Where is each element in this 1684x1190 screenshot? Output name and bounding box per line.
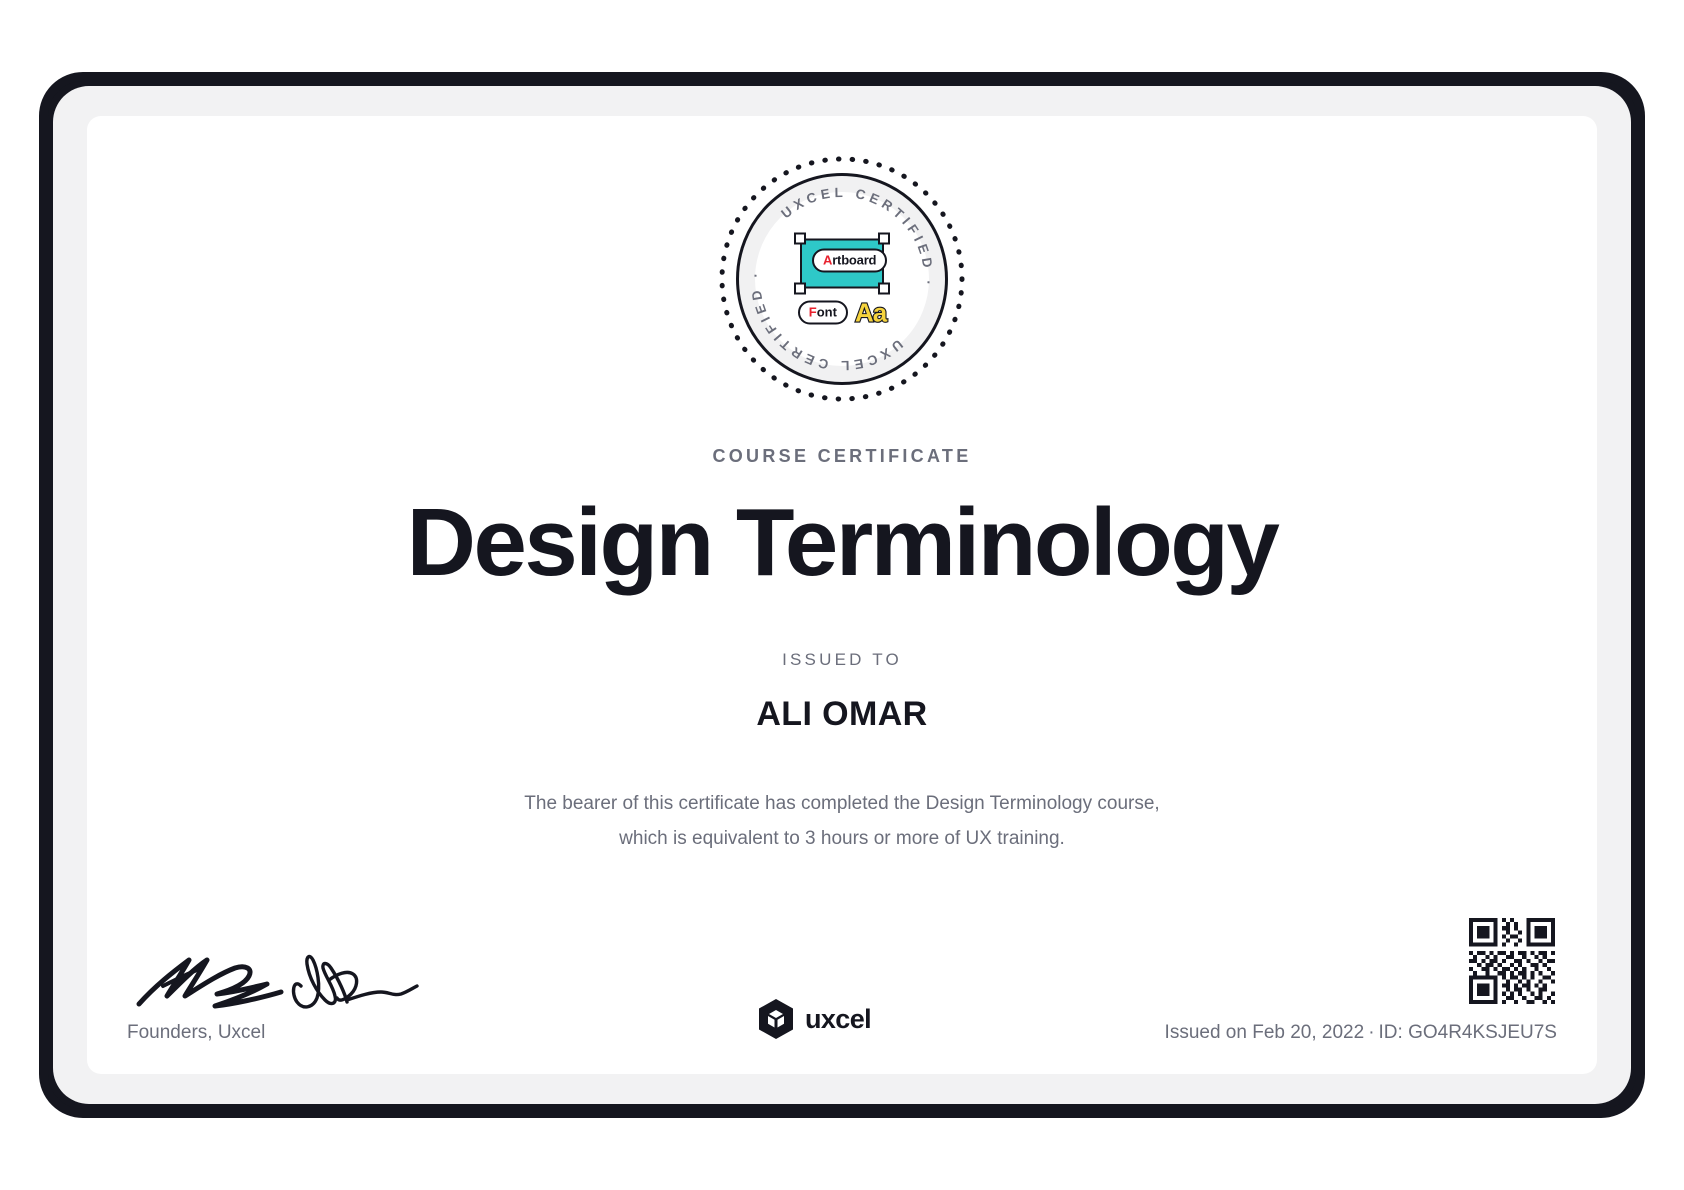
artboard-handle-bottom-left (794, 283, 806, 295)
uxcel-certified-seal: UXCEL CERTIFIED · UXCEL CERTIFIED · (713, 150, 971, 408)
artboard-handle-bottom-right (878, 283, 890, 295)
artboard-label-pill: Artboard (812, 249, 887, 273)
founders-signature-icon (133, 934, 423, 1012)
meta-separator: · (1364, 1022, 1378, 1043)
certificate-mat: UXCEL CERTIFIED · UXCEL CERTIFIED · (53, 86, 1631, 1104)
uxcel-wordmark: uxcel (805, 1004, 871, 1035)
font-icon-row: Font Aa (798, 300, 886, 326)
certificate-meta: Issued on Feb 20, 2022·ID: GO4R4KSJEU7S (1165, 1022, 1557, 1044)
recipient-name: ALI OMAR (756, 695, 927, 734)
description-line-2: which is equivalent to 3 hours or more o… (524, 821, 1159, 856)
issued-to-label: ISSUED TO (782, 650, 902, 670)
artboard-handle-top-left (794, 233, 806, 245)
certificate-meta-block: Issued on Feb 20, 2022·ID: GO4R4KSJEU7S (1137, 918, 1557, 1044)
certificate-description: The bearer of this certificate has compl… (524, 786, 1159, 856)
course-title: Design Terminology (407, 493, 1278, 594)
certificate-sheet: UXCEL CERTIFIED · UXCEL CERTIFIED · (87, 116, 1597, 1074)
certificate-page: UXCEL CERTIFIED · UXCEL CERTIFIED · (0, 0, 1684, 1190)
description-line-1: The bearer of this certificate has compl… (524, 786, 1159, 821)
certificate-id: ID: GO4R4KSJEU7S (1379, 1022, 1557, 1043)
font-label-rest: ont (817, 305, 837, 320)
certificate-footer: Founders, Uxcel uxcel (87, 918, 1597, 1044)
signature-block: Founders, Uxcel (127, 934, 507, 1044)
aa-glyph-icon: Aa (855, 300, 886, 326)
certificate-frame: UXCEL CERTIFIED · UXCEL CERTIFIED · (39, 72, 1645, 1118)
artboard-handle-top-right (878, 233, 890, 245)
seal-artwork: Artboard Font Aa (782, 233, 902, 326)
uxcel-brand-logo: uxcel (757, 998, 871, 1044)
artboard-label-initial: A (823, 253, 832, 268)
issued-on-date: Issued on Feb 20, 2022 (1165, 1022, 1365, 1043)
certificate-eyebrow: COURSE CERTIFICATE (712, 446, 971, 467)
font-label-initial: F (809, 305, 817, 320)
qr-code-icon[interactable] (1469, 918, 1555, 1004)
artboard-icon: Artboard (794, 233, 890, 295)
artboard-label-rest: rtboard (832, 253, 876, 268)
font-label-pill: Font (798, 301, 848, 325)
uxcel-cube-icon (757, 998, 795, 1040)
signature-caption: Founders, Uxcel (127, 1022, 507, 1044)
